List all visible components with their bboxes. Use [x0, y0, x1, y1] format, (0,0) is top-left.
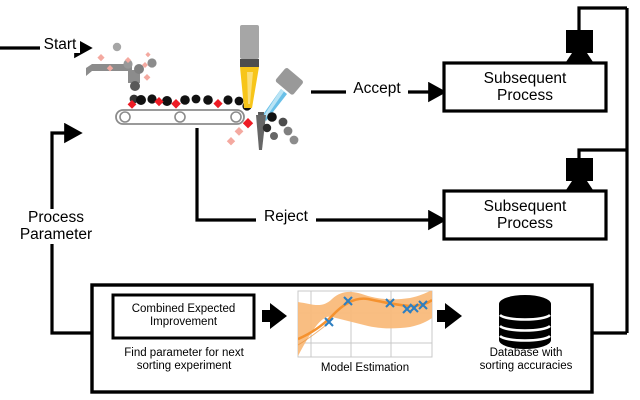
reject-label: Reject [256, 208, 316, 225]
database-icon [499, 295, 551, 349]
model-estimation-thumbnail [298, 290, 432, 357]
infeed-particles [97, 43, 156, 104]
optical-sorting-machine [86, 25, 304, 150]
database-caption: Database with sorting accuracies [458, 347, 594, 373]
accepted-product-stream [263, 112, 299, 144]
subsequent-process-reject-label: Subsequent Process [444, 198, 606, 233]
belt-particles [128, 94, 252, 110]
conveyor-belt [116, 110, 244, 124]
diagram-canvas: Start Accept Reject Process Parameter Su… [0, 0, 640, 400]
accept-label: Accept [346, 80, 408, 97]
air-jet-ejector-nozzle [262, 67, 304, 121]
combined-expected-improvement-label: Combined Expected Improvement [113, 303, 254, 329]
feedback-bus-line [588, 8, 627, 333]
subsequent-process-accept-label: Subsequent Process [444, 70, 606, 105]
yellow-illumination-sensor-head [240, 25, 259, 108]
rejected-product-stream-faded [227, 127, 244, 145]
accept-feedback-line [579, 8, 627, 32]
combined-expected-improvement-caption: Find parameter for next sorting experime… [100, 347, 268, 373]
vibratory-feeder-chute [86, 64, 140, 83]
start-label: Start [40, 36, 80, 53]
process-parameter-label: Process Parameter [8, 209, 104, 244]
model-estimation-caption: Model Estimation [298, 362, 432, 375]
camera-icon-reject [566, 158, 593, 190]
camera-icon-accept [566, 30, 593, 62]
